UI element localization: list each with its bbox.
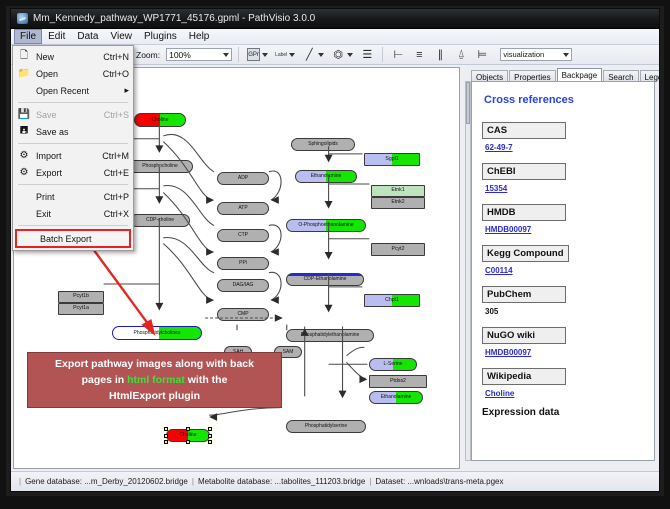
metabolite-node-adp[interactable]: ADP xyxy=(217,172,269,185)
xref-link[interactable]: C00114 xyxy=(485,266,644,275)
scrollbar-thumb[interactable] xyxy=(466,82,470,124)
xref-block-wikipedia: WikipediaCholine xyxy=(482,366,644,398)
file-menu-label: New xyxy=(36,52,103,62)
file-menu-accelerator: Ctrl+X xyxy=(104,209,129,219)
file-menu-accelerator: Ctrl+P xyxy=(104,192,129,202)
menu-help[interactable]: Help xyxy=(183,29,216,44)
file-menu-item-exit[interactable]: ExitCtrl+X xyxy=(13,205,133,222)
cross-references-heading: Cross references xyxy=(484,94,644,106)
window-title: Mm_Kennedy_pathway_WP1771_45176.gpml - P… xyxy=(33,9,315,29)
zoom-value: 100% xyxy=(169,50,191,60)
metabolite-node-ethanolamine[interactable]: Ethanolamine xyxy=(295,170,357,183)
no-icon xyxy=(17,190,31,204)
file-menu-item-open[interactable]: 📁OpenCtrl+O xyxy=(13,65,133,82)
zoom-label: Zoom: xyxy=(136,50,160,60)
status-gene-database: Gene database: ...m_Derby_20120602.bridg… xyxy=(25,477,188,486)
chevron-down-icon xyxy=(318,53,324,57)
annotation-line2-highlight: html format xyxy=(127,374,185,386)
align-left-icon: ⊢ xyxy=(391,48,405,62)
file-menu-label: Import xyxy=(36,151,102,161)
title-bar: Mm_Kennedy_pathway_WP1771_45176.gpml - P… xyxy=(11,9,659,29)
no-icon xyxy=(17,84,31,98)
metabolite-node-o-phosphoethanolamine[interactable]: O-Phosphoethanolamine xyxy=(286,219,366,232)
chevron-down-icon xyxy=(289,53,295,57)
app-icon xyxy=(17,13,28,24)
label-tool-button[interactable]: Label xyxy=(273,47,297,62)
chevron-down-icon xyxy=(262,53,268,57)
open-folder-icon: 📁 xyxy=(17,67,31,81)
chevron-down-icon xyxy=(223,53,229,57)
line-icon: ╱ xyxy=(302,48,316,62)
gene-node-chpt1[interactable]: Chpt1 xyxy=(364,294,420,307)
annotation-line3: HtmlExport plugin xyxy=(109,390,200,402)
xref-database-name: ChEBI xyxy=(482,163,566,180)
shape-tool-button[interactable]: ⏣ xyxy=(329,47,355,62)
gene-node-pcyt1a[interactable]: Pcyt1a xyxy=(58,303,104,315)
xref-block-nugo-wiki: NuGO wikiHMDB00097 xyxy=(482,325,644,357)
selection-handle[interactable] xyxy=(186,427,190,431)
file-menu-label: Open xyxy=(36,69,103,79)
metabolite-node-phosphatidylethanolamine[interactable]: Phosphatidylethanolamine xyxy=(286,329,374,342)
menu-plugins[interactable]: Plugins xyxy=(138,29,183,44)
size-icon: ⍙ xyxy=(454,48,468,62)
file-menu-item-open-recent[interactable]: Open Recent▸ xyxy=(13,82,133,99)
selection-handle[interactable] xyxy=(208,427,212,431)
file-menu-item-import[interactable]: ⚙ImportCtrl+M xyxy=(13,147,133,164)
metabolite-node-cdp-ethanolamine[interactable]: CDP-Ethanolamine xyxy=(286,273,364,286)
gene-node-pcyt1b[interactable]: Pcyt1b xyxy=(58,291,104,303)
size-button[interactable]: ⍙ xyxy=(452,47,470,62)
align-center-icon: ☰ xyxy=(360,48,374,62)
xref-block-pubchem: PubChem305 xyxy=(482,284,644,316)
file-menu-accelerator: Ctrl+M xyxy=(102,151,129,161)
gene-node-pcyt2[interactable]: Pcyt2 xyxy=(371,243,425,256)
metabolite-node-l-serine[interactable]: L-Serine xyxy=(369,358,417,371)
align-center-button[interactable]: ☰ xyxy=(358,47,376,62)
file-menu-label: Save as xyxy=(36,127,129,137)
file-menu-item-export[interactable]: ⚙ExportCtrl+E xyxy=(13,164,133,181)
status-divider-1: | xyxy=(192,477,194,486)
distribute-button[interactable]: ∥ xyxy=(431,47,449,62)
order-button[interactable]: ⊨ xyxy=(473,47,491,62)
no-icon xyxy=(17,207,31,221)
pathvisio-window: Mm_Kennedy_pathway_WP1771_45176.gpml - P… xyxy=(10,8,660,492)
annotation-line2-pre: pages in xyxy=(82,374,128,386)
cross-reference-list: CAS62-49-7ChEBI15354HMDBHMDB00097Kegg Co… xyxy=(482,120,644,398)
metabolite-node-ppi[interactable]: PPi xyxy=(217,257,269,270)
status-bar: | Gene database: ...m_Derby_20120602.bri… xyxy=(11,471,659,491)
order-icon: ⊨ xyxy=(475,48,489,62)
stack-button[interactable]: ≡ xyxy=(410,47,428,62)
file-menu-label: Save xyxy=(36,110,104,120)
visualization-value: visualization xyxy=(503,50,544,59)
metabolite-node-cdp-choline[interactable]: CDP-choline xyxy=(130,214,190,227)
file-menu-divider xyxy=(18,184,128,185)
file-menu-label: Exit xyxy=(36,209,104,219)
file-menu-divider xyxy=(18,143,128,144)
annotation-line1: Export pathway images along with back xyxy=(55,358,254,370)
export-icon: ⚙ xyxy=(17,166,31,180)
xref-value: 305 xyxy=(485,307,644,316)
file-menu-accelerator: Ctrl+O xyxy=(103,69,129,79)
file-menu-item-save: 💾SaveCtrl+S xyxy=(13,106,133,123)
status-metabolite-database: Metabolite database: ...tabolites_111203… xyxy=(198,477,365,486)
xref-link[interactable]: HMDB00097 xyxy=(485,225,644,234)
visualization-combobox[interactable]: visualization xyxy=(500,48,572,61)
screenshot-frame: Mm_Kennedy_pathway_WP1771_45176.gpml - P… xyxy=(0,0,670,509)
selection-handle[interactable] xyxy=(164,434,168,438)
expression-data-heading: Expression data xyxy=(482,407,644,418)
menu-data[interactable]: Data xyxy=(71,29,104,44)
save-disk-icon: 💾 xyxy=(17,108,31,122)
geneproduct-icon: GPr xyxy=(247,48,260,61)
xref-database-name: Wikipedia xyxy=(482,368,566,385)
file-menu-label: Print xyxy=(36,192,104,202)
metabolite-node-sphingolipids[interactable]: Sphingolipids xyxy=(291,138,355,151)
status-divider-2: | xyxy=(369,477,371,486)
file-menu-accelerator: Ctrl+S xyxy=(104,110,129,120)
new-file-icon: 🗋 xyxy=(17,50,31,64)
file-menu-label: Batch Export xyxy=(40,234,125,244)
toolbar-divider-2 xyxy=(382,47,383,62)
file-menu-accelerator: Ctrl+E xyxy=(104,168,129,178)
shape-icon: ⏣ xyxy=(331,48,345,62)
toolbar-divider xyxy=(238,47,239,62)
file-menu-dropdown[interactable]: 🗋NewCtrl+N📁OpenCtrl+OOpen Recent▸💾SaveCt… xyxy=(12,45,134,251)
zoom-combobox[interactable]: 100% xyxy=(166,48,232,61)
geneproduct-tool-button[interactable]: GPr xyxy=(245,47,270,62)
xref-link[interactable]: 15354 xyxy=(485,184,644,193)
gene-node-etnk2[interactable]: Etnk2 xyxy=(371,197,425,209)
line-tool-button[interactable]: ╱ xyxy=(300,47,326,62)
menu-view[interactable]: View xyxy=(104,29,138,44)
side-panel: Objects Properties Backpage Search Legen… xyxy=(463,67,657,469)
label-icon: Label xyxy=(275,52,287,58)
side-panel-tabs[interactable]: Objects Properties Backpage Search Legen… xyxy=(471,67,657,82)
metabolite-node-dag-iag[interactable]: DAG/IAG xyxy=(217,279,269,292)
xref-block-kegg-compound: Kegg CompoundC00114 xyxy=(482,243,644,275)
xref-block-cas: CAS62-49-7 xyxy=(482,120,644,152)
xref-database-name: Kegg Compound xyxy=(482,245,569,262)
metabolite-node-phosphocholine[interactable]: Phosphocholine xyxy=(127,160,193,173)
selection-handle[interactable] xyxy=(186,440,190,444)
metabolite-node-phosphatidylcholines[interactable]: Phosphatidylcholines xyxy=(112,326,202,340)
save-as-icon: 🖪 xyxy=(17,125,31,139)
status-divider-0: | xyxy=(19,477,21,486)
tab-backpage[interactable]: Backpage xyxy=(557,68,603,82)
xref-block-chebi: ChEBI15354 xyxy=(482,161,644,193)
menu-file[interactable]: File xyxy=(14,29,42,44)
file-menu-item-new[interactable]: 🗋NewCtrl+N xyxy=(13,48,133,65)
xref-database-name: CAS xyxy=(482,122,566,139)
metabolite-node-atp[interactable]: ATP xyxy=(217,202,269,215)
metabolite-node-ethanolamine-2[interactable]: Ethanolamine xyxy=(369,391,423,404)
selection-handle[interactable] xyxy=(164,427,168,431)
metabolite-node-ctp[interactable]: CTP xyxy=(217,229,269,242)
file-menu-accelerator: Ctrl+N xyxy=(103,52,129,62)
xref-link[interactable]: HMDB00097 xyxy=(485,348,644,357)
annotation-line2-post: with the xyxy=(185,374,228,386)
chevron-down-icon xyxy=(563,53,569,57)
file-menu-label: Open Recent xyxy=(36,86,124,96)
metabolite-node-cmp[interactable]: CMP xyxy=(217,308,269,321)
metabolite-node-phosphatidylserine[interactable]: Phosphatidylserine xyxy=(286,420,366,433)
distribute-icon: ∥ xyxy=(433,48,447,62)
xref-database-name: HMDB xyxy=(482,204,566,221)
stack-icon: ≡ xyxy=(412,48,426,62)
no-icon xyxy=(21,232,35,246)
file-menu-item-save-as[interactable]: 🖪Save as xyxy=(13,123,133,140)
backpage-content: Cross references CAS62-49-7ChEBI15354HMD… xyxy=(471,81,655,461)
selection-handle[interactable] xyxy=(164,440,168,444)
status-dataset: Dataset: ...wnloads\trans-meta.pgex xyxy=(375,477,503,486)
menu-bar[interactable]: File Edit Data View Plugins Help xyxy=(11,29,659,45)
xref-database-name: NuGO wiki xyxy=(482,327,566,344)
xref-block-hmdb: HMDBHMDB00097 xyxy=(482,202,644,234)
selection-handle[interactable] xyxy=(208,440,212,444)
file-menu-item-batch-export[interactable]: Batch Export xyxy=(15,229,131,248)
gene-node-etnk1[interactable]: Etnk1 xyxy=(371,185,425,197)
annotation-banner: Export pathway images along with back pa… xyxy=(27,352,282,408)
submenu-arrow-icon: ▸ xyxy=(124,85,129,96)
file-menu-divider xyxy=(18,102,128,103)
align-left-button[interactable]: ⊢ xyxy=(389,47,407,62)
import-icon: ⚙ xyxy=(17,149,31,163)
gene-node-ptdss2[interactable]: Ptdss2 xyxy=(369,375,427,388)
menu-edit[interactable]: Edit xyxy=(42,29,71,44)
file-menu-divider xyxy=(18,225,128,226)
file-menu-item-print[interactable]: PrintCtrl+P xyxy=(13,188,133,205)
chevron-down-icon xyxy=(347,53,353,57)
selection-handle[interactable] xyxy=(208,434,212,438)
file-menu-label: Export xyxy=(36,168,104,178)
gene-node-sgpl1[interactable]: Sgpl1 xyxy=(364,153,420,166)
xref-database-name: PubChem xyxy=(482,286,566,303)
xref-link[interactable]: Choline xyxy=(485,389,644,398)
xref-link[interactable]: 62-49-7 xyxy=(485,143,644,152)
metabolite-node-choline-top[interactable]: Choline xyxy=(134,113,186,127)
